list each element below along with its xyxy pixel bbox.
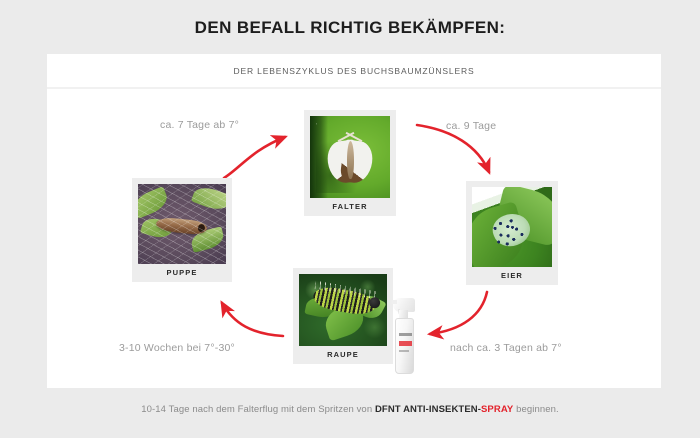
footer-note: 10-14 Tage nach dem Falterflug mit dem S… [0, 404, 700, 415]
transition-label-falter-to-eier: ca. 9 Tage [446, 120, 496, 132]
footer-product-accent: SPRAY [481, 404, 513, 415]
panel-subtitle: DER LEBENSZYKLUS DES BUCHSBAUMZÜNSLERS [47, 66, 661, 76]
eier-photo [472, 187, 552, 267]
puppe-photo [138, 184, 226, 264]
footer-suffix: beginnen. [513, 404, 558, 415]
stage-card-puppe[interactable]: PUPPE [132, 178, 232, 282]
stage-label-falter: FALTER [310, 198, 390, 216]
falter-photo [310, 116, 390, 198]
stage-card-raupe[interactable]: RAUPE [293, 268, 393, 364]
page-title: DEN BEFALL RICHTIG BEKÄMPFEN: [0, 18, 700, 38]
stage-card-eier[interactable]: EIER [466, 181, 558, 285]
raupe-photo [299, 274, 387, 346]
transition-label-raupe-to-puppe: 3-10 Wochen bei 7°-30° [119, 342, 235, 354]
transition-label-eier-to-raupe: nach ca. 3 Tagen ab 7° [450, 342, 562, 354]
transition-label-puppe-to-falter: ca. 7 Tage ab 7° [160, 119, 239, 131]
stage-label-eier: EIER [472, 267, 552, 285]
panel-divider [47, 87, 661, 89]
footer-product-bold: DFNT ANTI-INSEKTEN- [375, 404, 481, 415]
infographic-root: DEN BEFALL RICHTIG BEKÄMPFEN: DER LEBENS… [0, 0, 700, 438]
footer-prefix: 10-14 Tage nach dem Falterflug mit dem S… [141, 404, 375, 415]
stage-label-raupe: RAUPE [299, 346, 387, 364]
stage-card-falter[interactable]: FALTER [304, 110, 396, 216]
spray-bottle-icon [391, 296, 419, 374]
stage-label-puppe: PUPPE [138, 264, 226, 282]
